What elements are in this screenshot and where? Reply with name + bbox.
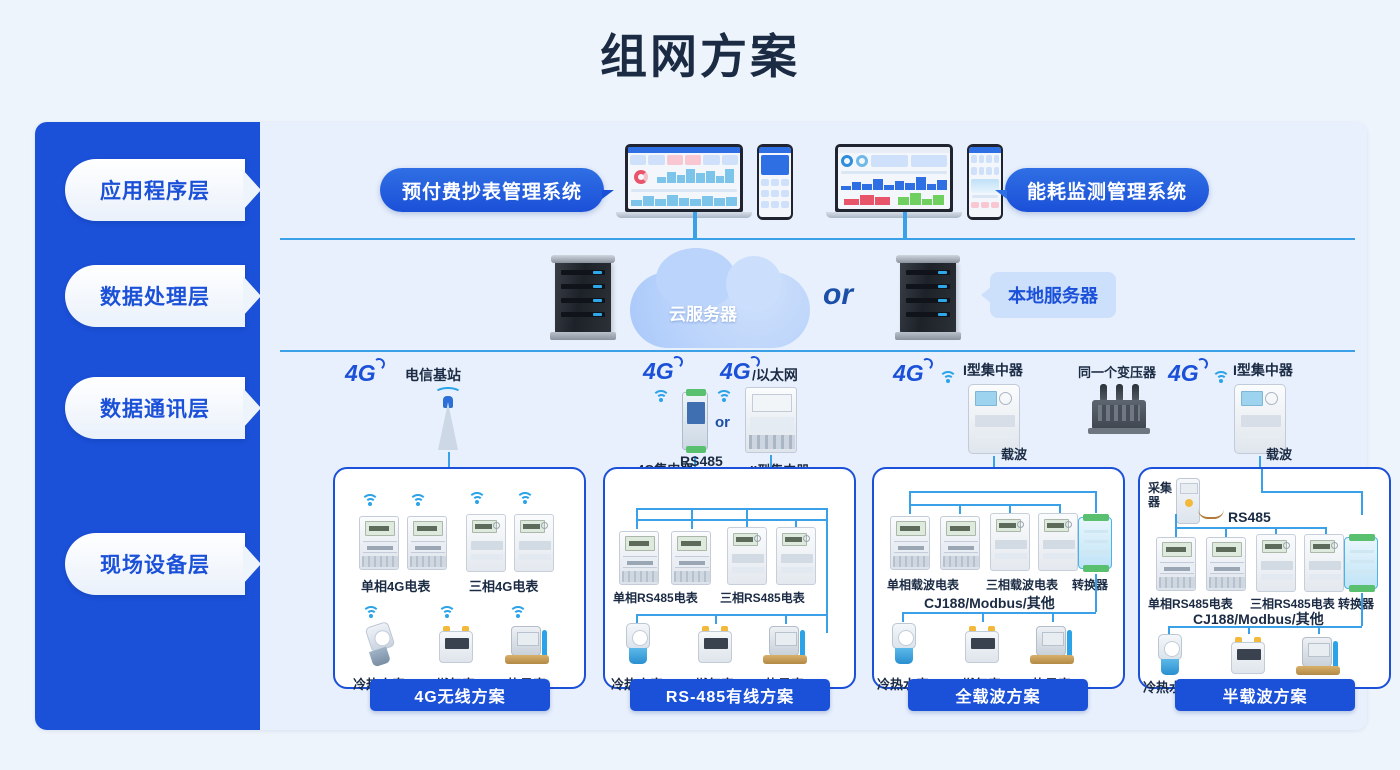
app-badge-label: 能耗监测管理系统 [1027, 177, 1187, 204]
concentrator-type2-icon [745, 387, 797, 453]
concentrator-type1-label: I型集中器 [1233, 360, 1293, 380]
water-meter-icon [884, 621, 924, 667]
bus-label-rs485: RS485 [1228, 509, 1271, 525]
tech-4g-icon-col1: 4G [345, 360, 376, 387]
branch [1225, 527, 1227, 537]
branch [785, 614, 787, 624]
meter-1p-label: 单相载波电表 [887, 576, 959, 593]
diagram-content: 预付费抄表管理系统 [260, 122, 1367, 730]
carrier-label-col4: 载波 [1266, 444, 1292, 463]
app-badge-prepaid-system[interactable]: 预付费抄表管理系统 [380, 168, 604, 212]
branch [909, 504, 911, 514]
water-meter-icon [1150, 632, 1190, 678]
transformer-icon [1088, 384, 1150, 434]
server-local-icon [900, 260, 956, 334]
solution-title-label: 4G无线方案 [414, 683, 505, 707]
carrier-label-col3: 载波 [1001, 444, 1027, 463]
collector-wire [1198, 509, 1224, 519]
meter-1p-icon [1206, 537, 1246, 591]
converter-label: 转换器 [1072, 576, 1108, 593]
heat-meter-icon [1296, 635, 1340, 679]
meter-3p-icon [1304, 534, 1344, 592]
solution-box-full-carrier: 单相载波电表 三相载波电表 转换器 CJ188/Modbus/其他 冷热水表 燃… [872, 467, 1125, 689]
laptop-base [616, 212, 752, 218]
heat-meter-icon [1030, 624, 1074, 668]
heat-meter-icon [505, 624, 549, 668]
branch [909, 491, 911, 504]
connector-app-right [903, 212, 907, 238]
branch [1318, 626, 1320, 634]
app-badge-label: 预付费抄表管理系统 [402, 177, 582, 204]
branch [691, 519, 693, 529]
laptop-screen [625, 144, 743, 212]
meter-3p-icon [776, 527, 816, 585]
laptop-screen [835, 144, 953, 212]
phone-mockup [757, 144, 793, 220]
converter-label: 转换器 [1338, 595, 1374, 612]
meter-3p-icon [1256, 534, 1296, 592]
tech-4g-icon-col2b: 4G [720, 358, 751, 385]
layer-sidebar: 应用程序层 数据处理层 数据通讯层 现场设备层 [35, 122, 260, 730]
tech-4g-label: 4G [893, 360, 924, 386]
wifi-icon-col3 [939, 371, 959, 387]
app-badge-energy-system[interactable]: 能耗监测管理系统 [1005, 168, 1209, 212]
or-divider-label-col2: or [715, 414, 730, 431]
concentrator-type1-label: I型集中器 [963, 360, 1023, 380]
meter-1p-label: 单相RS485电表 [613, 589, 698, 606]
bus-label-rs485: RS485 [680, 453, 723, 469]
meter-3p-icon [1038, 513, 1078, 571]
branch-converter-down [1095, 574, 1097, 612]
bus-rs485-sub [636, 519, 827, 521]
gas-meter-icon [695, 624, 735, 668]
wifi-icon-col4 [1212, 371, 1232, 387]
solution-title-rs485[interactable]: RS-485有线方案 [630, 679, 830, 711]
local-server-label: 本地服务器 [1008, 282, 1098, 308]
tech-4g-icon-col4: 4G [1168, 360, 1199, 387]
bus-rs485-main [636, 508, 826, 510]
laptop-mockup [625, 144, 745, 218]
meter-3p-label: 三相载波电表 [986, 576, 1058, 593]
meter-3p-icon [466, 514, 506, 572]
laptop-base [826, 212, 962, 218]
branch-converter [1361, 491, 1363, 515]
gas-meter-icon [1228, 635, 1268, 679]
tech-4g-label: 4G [643, 358, 674, 384]
water-meter-icon [360, 622, 400, 668]
tech-4g-label: 4G [345, 360, 376, 386]
phone-mockup [967, 144, 1003, 220]
base-station-label: 电信基站 [405, 365, 461, 385]
sidebar-item-label: 现场设备层 [100, 549, 210, 579]
concentrator-4g-icon [682, 392, 708, 450]
bus-top [1261, 491, 1361, 493]
solution-box-4g: 单相4G电表 三相4G电表 冷热水表 燃气表 热量表 [333, 467, 586, 689]
gas-meter-icon [962, 624, 1002, 668]
branch-converter-down [1361, 593, 1363, 626]
tech-4g-label: 4G [1168, 360, 1199, 386]
tech-4g-icon-col2a: 4G [643, 358, 674, 385]
wifi-icon [361, 494, 381, 510]
meter-1p-icon [619, 531, 659, 585]
laptop-mockup [835, 144, 955, 218]
diagram-frame: 应用程序层 数据处理层 数据通讯层 现场设备层 预付费抄表管理系统 [35, 122, 1367, 730]
base-station-tower-icon [420, 392, 476, 454]
bus-protocol [1168, 626, 1362, 628]
bus-application [280, 238, 1355, 240]
meter-3p-icon [727, 527, 767, 585]
branch [1052, 612, 1054, 622]
wifi-icon-col2b [715, 390, 735, 406]
connector-col1-down [448, 452, 450, 468]
cloud-server-label: 云服务器 [669, 300, 737, 325]
branch [1248, 626, 1250, 634]
solution-title-label: RS-485有线方案 [666, 683, 794, 707]
bus-carrier-sub [909, 504, 1059, 506]
heat-meter-icon [763, 624, 807, 668]
branch-converter [1095, 491, 1097, 513]
meter-1p-icon [407, 516, 447, 570]
meter-3p-label: 三相RS485电表 [720, 589, 805, 606]
tech-4g-icon-col3: 4G [893, 360, 924, 387]
branch [715, 614, 717, 624]
solution-title-full-carrier[interactable]: 全载波方案 [908, 679, 1088, 711]
meter-1p-label: 单相4G电表 [361, 576, 430, 595]
tech-4g-label: 4G [720, 358, 751, 384]
sidebar-item-label: 数据处理层 [100, 281, 210, 311]
sidebar-item-field-device-layer[interactable]: 现场设备层 [65, 533, 245, 595]
solution-title-label: 全载波方案 [955, 683, 1040, 707]
or-divider-label: or [823, 278, 853, 312]
collector-label: 采集器 [1148, 481, 1174, 509]
bus-rs485-lower [636, 614, 827, 616]
server-cloud-icon [555, 260, 611, 334]
solution-box-half-carrier: 采集器 RS485 单相RS485电表 三相RS485电表 [1138, 467, 1391, 689]
solution-title-label: 半载波方案 [1222, 683, 1307, 707]
branch [982, 612, 984, 622]
wifi-icon [468, 492, 488, 508]
meter-1p-icon [940, 516, 980, 570]
bus-protocol [902, 612, 1096, 614]
gas-meter-icon [436, 624, 476, 668]
branch [959, 504, 961, 514]
converter-icon [1344, 537, 1378, 589]
wifi-icon [362, 606, 382, 622]
collector-icon [1176, 478, 1200, 524]
connector-app-left [693, 212, 697, 238]
sidebar-item-application-layer[interactable]: 应用程序层 [65, 159, 245, 221]
branch [1175, 514, 1177, 527]
water-meter-icon [618, 621, 658, 667]
solution-title-4g[interactable]: 4G无线方案 [370, 679, 550, 711]
solution-box-rs485: 单相RS485电表 三相RS485电表 冷热水表 燃气表 热量表 [603, 467, 856, 689]
branch [636, 519, 638, 529]
bus-rs485-sub [1175, 527, 1325, 529]
wifi-icon [409, 494, 429, 510]
sidebar-item-data-communication-layer[interactable]: 数据通讯层 [65, 377, 245, 439]
branch [1175, 527, 1177, 537]
meter-1p-icon [1156, 537, 1196, 591]
converter-icon [1078, 517, 1112, 569]
ethernet-suffix-label: /以太网 [752, 365, 798, 385]
wifi-icon [509, 606, 529, 622]
meter-3p-label: 三相4G电表 [469, 576, 538, 595]
local-server-badge[interactable]: 本地服务器 [990, 272, 1116, 318]
solution-title-half-carrier[interactable]: 半载波方案 [1175, 679, 1355, 711]
meter-1p-icon [890, 516, 930, 570]
bus-processing [280, 350, 1355, 352]
transformer-label: 同一个变压器 [1078, 362, 1156, 381]
meter-1p-icon [671, 531, 711, 585]
meter-3p-icon [514, 514, 554, 572]
bus-carrier-main [909, 491, 1095, 493]
sidebar-item-data-processing-layer[interactable]: 数据处理层 [65, 265, 245, 327]
meter-3p-icon [990, 513, 1030, 571]
page-title: 组网方案 [0, 18, 1400, 87]
sidebar-item-label: 数据通讯层 [100, 393, 210, 423]
wifi-icon-col2a [652, 390, 672, 406]
wifi-icon [438, 606, 458, 622]
sidebar-item-label: 应用程序层 [100, 175, 210, 205]
wifi-icon [516, 492, 536, 508]
protocol-label: CJ188/Modbus/其他 [924, 593, 1055, 613]
branch-top [1261, 469, 1263, 491]
meter-1p-icon [359, 516, 399, 570]
